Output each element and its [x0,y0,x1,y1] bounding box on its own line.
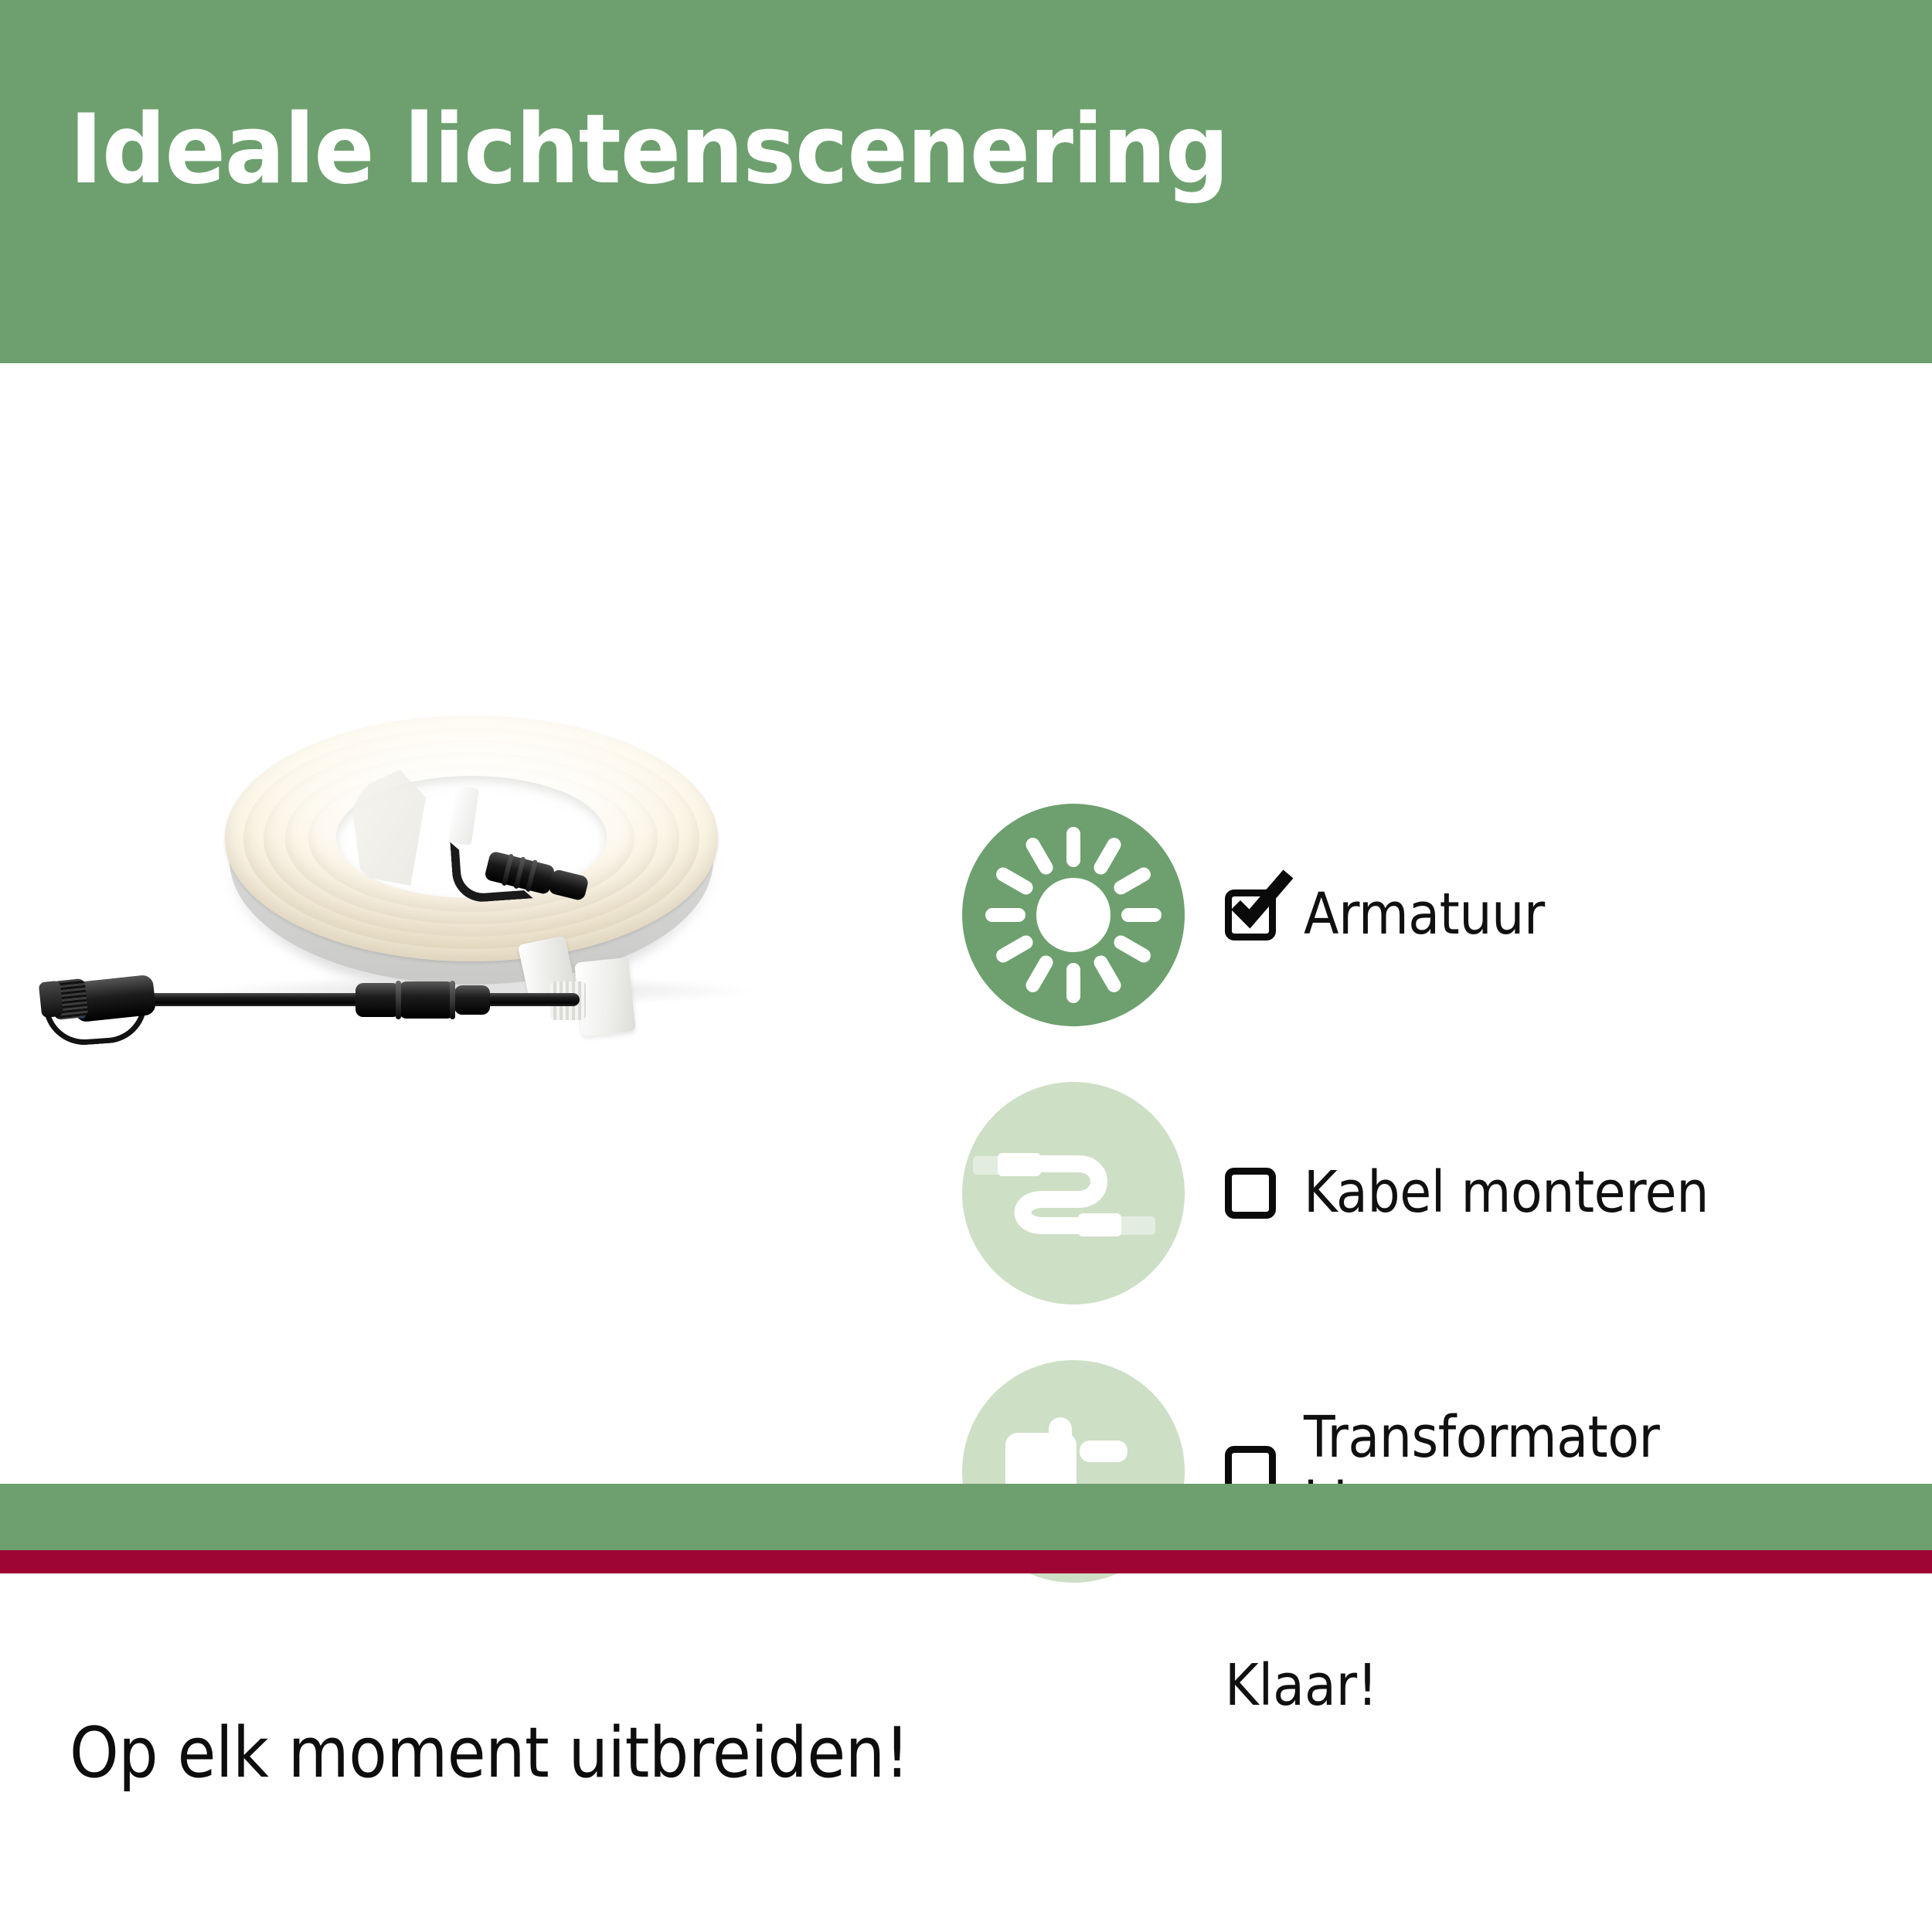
checkbox-armatuur[interactable] [1225,889,1276,940]
checkbox-kabel-monteren[interactable] [1225,1168,1276,1219]
checklist-row-armatuur[interactable]: Armatuur [962,804,1913,1082]
checkmark-icon [1230,869,1296,936]
inline-connector-ring-1 [396,981,401,1019]
page-title: Ideale lichtenscenering [70,99,1229,202]
plug-front-face [39,981,64,1019]
inline-connector-segment-2 [399,981,454,1019]
sun-icon [962,804,1185,1026]
checklist-label-armatuur: Armatuur [1304,882,1545,948]
checkbox-box [1225,1168,1276,1219]
cable-plug-end [39,972,178,1039]
bottom-crimson-band [0,1550,1932,1573]
header-band: Ideale lichtenscenering [0,0,1932,363]
bottom-green-band [0,1484,1932,1550]
checklist-done-label: Klaar! [1225,1652,1378,1719]
inline-connector-segment-3 [454,985,490,1015]
inline-connector-segment-1 [355,983,400,1017]
checklist-row-kabel-content: Kabel monteren [1225,1082,1753,1304]
product-image [31,696,896,1059]
footer-text: Op elk moment uitbreiden! [70,1713,910,1794]
checklist-row-kabel[interactable]: Kabel monteren [962,1082,1913,1360]
cable-icon [962,1082,1185,1304]
inline-connector [355,980,510,1020]
inner-connector-cap [547,869,589,902]
checklist-row-armatuur-content: Armatuur [1225,804,1571,1026]
checklist-label-kabel-monteren: Kabel monteren [1304,1160,1709,1226]
inline-connector-ring-2 [450,981,455,1019]
led-strip-coil [220,696,723,1005]
main-content: Armatuur Kabel monteren [0,363,1932,1550]
